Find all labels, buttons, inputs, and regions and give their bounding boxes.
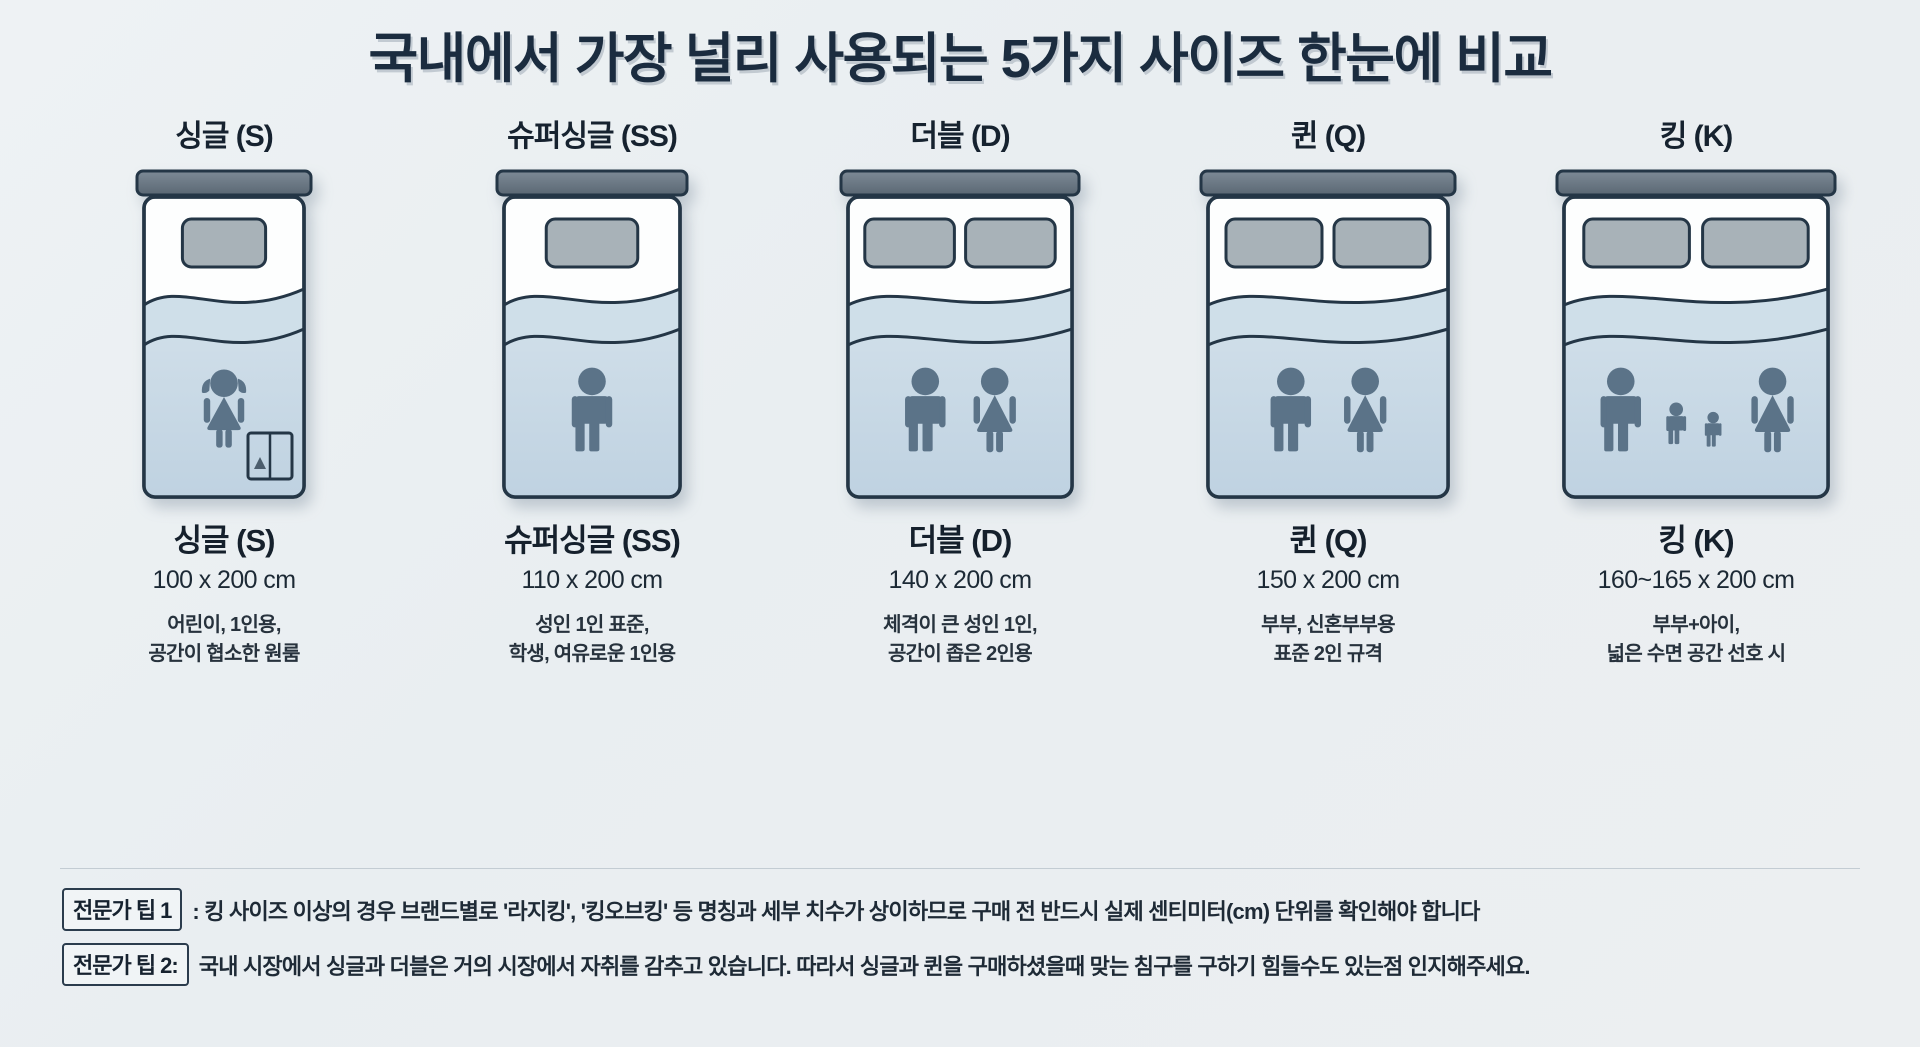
bed-description: 어린이, 1인용, 공간이 협소한 원룸: [148, 611, 299, 668]
bed-card-3[interactable]: 더블 (D): [776, 111, 1144, 668]
bed-description-line2: 학생, 여유로운 1인용: [504, 640, 680, 668]
pillow: [966, 219, 1056, 267]
bed-dimensions: 100 x 200 cm: [148, 566, 299, 595]
expert-tips-section: 전문가 팁 1 : 킹 사이즈 이상의 경우 브랜드별로 '라지킹', '킹오브…: [62, 888, 1880, 998]
bed-art: [1194, 167, 1462, 497]
pillow: [1584, 219, 1690, 267]
bed-info: 슈퍼싱글 (SS) 110 x 200 cm 성인 1인 표준, 학생, 여유로…: [504, 515, 680, 668]
bed-art: [1550, 167, 1842, 497]
expert-tip-text: : 킹 사이즈 이상의 경우 브랜드별로 '라지킹', '킹오브킹' 등 명칭과…: [192, 894, 1479, 926]
bed-description-line2: 넓은 수면 공간 선호 시: [1598, 640, 1795, 668]
bed-illustration-1: [490, 167, 694, 501]
expert-tip-row-1: 전문가 팁 1 : 킹 사이즈 이상의 경우 브랜드별로 '라지킹', '킹오브…: [62, 888, 1880, 931]
page-title: 국내에서 가장 널리 사용되는 5가지 사이즈 한눈에 비교: [0, 30, 1920, 89]
pillow: [182, 219, 265, 267]
headboard: [1557, 171, 1835, 195]
bed-info: 싱글 (S) 100 x 200 cm 어린이, 1인용, 공간이 협소한 원룸: [148, 515, 299, 668]
bed-illustration-4: [1550, 167, 1842, 501]
bed-top-label: 더블 (D): [910, 111, 1009, 155]
bed-art: [834, 167, 1086, 497]
bed-illustration-3: [1194, 167, 1462, 501]
bed-size-name: 더블 (D): [883, 515, 1037, 560]
bed-description: 부부+아이, 넓은 수면 공간 선호 시: [1598, 611, 1795, 668]
pillow: [1334, 219, 1430, 267]
bed-description-line1: 부부+아이,: [1598, 611, 1795, 639]
bed-description-line1: 부부, 신혼부부용: [1257, 611, 1400, 639]
bed-dimensions: 160~165 x 200 cm: [1598, 566, 1795, 595]
bed-size-name: 슈퍼싱글 (SS): [504, 515, 680, 560]
bed-size-name: 퀸 (Q): [1257, 515, 1400, 560]
expert-tip-row-2: 전문가 팁 2: 국내 시장에서 싱글과 더블은 거의 시장에서 자취를 감추고…: [62, 943, 1880, 986]
bed-description-line2: 공간이 좁은 2인용: [883, 640, 1037, 668]
bed-card-5[interactable]: 킹 (K): [1512, 111, 1880, 668]
pillow: [1703, 219, 1809, 267]
headboard: [497, 171, 687, 195]
bed-top-label: 킹 (K): [1660, 111, 1733, 155]
expert-tip-text: 국내 시장에서 싱글과 더블은 거의 시장에서 자취를 감추고 있습니다. 따라…: [199, 949, 1530, 981]
section-divider: [60, 868, 1860, 869]
title-section: 국내에서 가장 널리 사용되는 5가지 사이즈 한눈에 비교: [0, 0, 1920, 89]
pillow: [1226, 219, 1322, 267]
bed-card-4[interactable]: 퀸 (Q): [1144, 111, 1512, 668]
bed-card-2[interactable]: 슈퍼싱글 (SS): [408, 111, 776, 668]
bed-top-label: 퀸 (Q): [1291, 111, 1365, 155]
bed-info: 퀸 (Q) 150 x 200 cm 부부, 신혼부부용 표준 2인 규격: [1257, 515, 1400, 668]
bed-dimensions: 150 x 200 cm: [1257, 566, 1400, 595]
bed-description: 부부, 신혼부부용 표준 2인 규격: [1257, 611, 1400, 668]
bed-dimensions: 140 x 200 cm: [883, 566, 1037, 595]
bed-size-name: 싱글 (S): [148, 515, 299, 560]
bed-art: [490, 167, 694, 497]
bed-description-line1: 성인 1인 표준,: [504, 611, 680, 639]
bed-dimensions: 110 x 200 cm: [504, 566, 680, 595]
bed-description-line1: 어린이, 1인용,: [148, 611, 299, 639]
bed-illustration-0: [130, 167, 318, 501]
bed-description-line1: 체격이 큰 성인 1인,: [883, 611, 1037, 639]
bed-info: 킹 (K) 160~165 x 200 cm 부부+아이, 넓은 수면 공간 선…: [1598, 515, 1795, 668]
bed-info: 더블 (D) 140 x 200 cm 체격이 큰 성인 1인, 공간이 좁은 …: [883, 515, 1037, 668]
headboard: [137, 171, 311, 195]
headboard: [841, 171, 1079, 195]
bed-description: 성인 1인 표준, 학생, 여유로운 1인용: [504, 611, 680, 668]
headboard: [1201, 171, 1455, 195]
bed-illustration-2: [834, 167, 1086, 501]
bed-description-line2: 공간이 협소한 원룸: [148, 640, 299, 668]
bed-card-1[interactable]: 싱글 (S): [40, 111, 408, 668]
bed-top-label: 싱글 (S): [175, 111, 273, 155]
bed-comparison-row: 싱글 (S): [0, 111, 1920, 668]
expert-tip-badge: 전문가 팁 1: [62, 888, 182, 931]
expert-tip-badge: 전문가 팁 2:: [62, 943, 189, 986]
bed-size-name: 킹 (K): [1598, 515, 1795, 560]
bed-description-line2: 표준 2인 규격: [1257, 640, 1400, 668]
bed-description: 체격이 큰 성인 1인, 공간이 좁은 2인용: [883, 611, 1037, 668]
pillow: [865, 219, 955, 267]
pillow: [546, 219, 638, 267]
bed-art: [130, 167, 318, 497]
bed-top-label: 슈퍼싱글 (SS): [507, 111, 677, 155]
